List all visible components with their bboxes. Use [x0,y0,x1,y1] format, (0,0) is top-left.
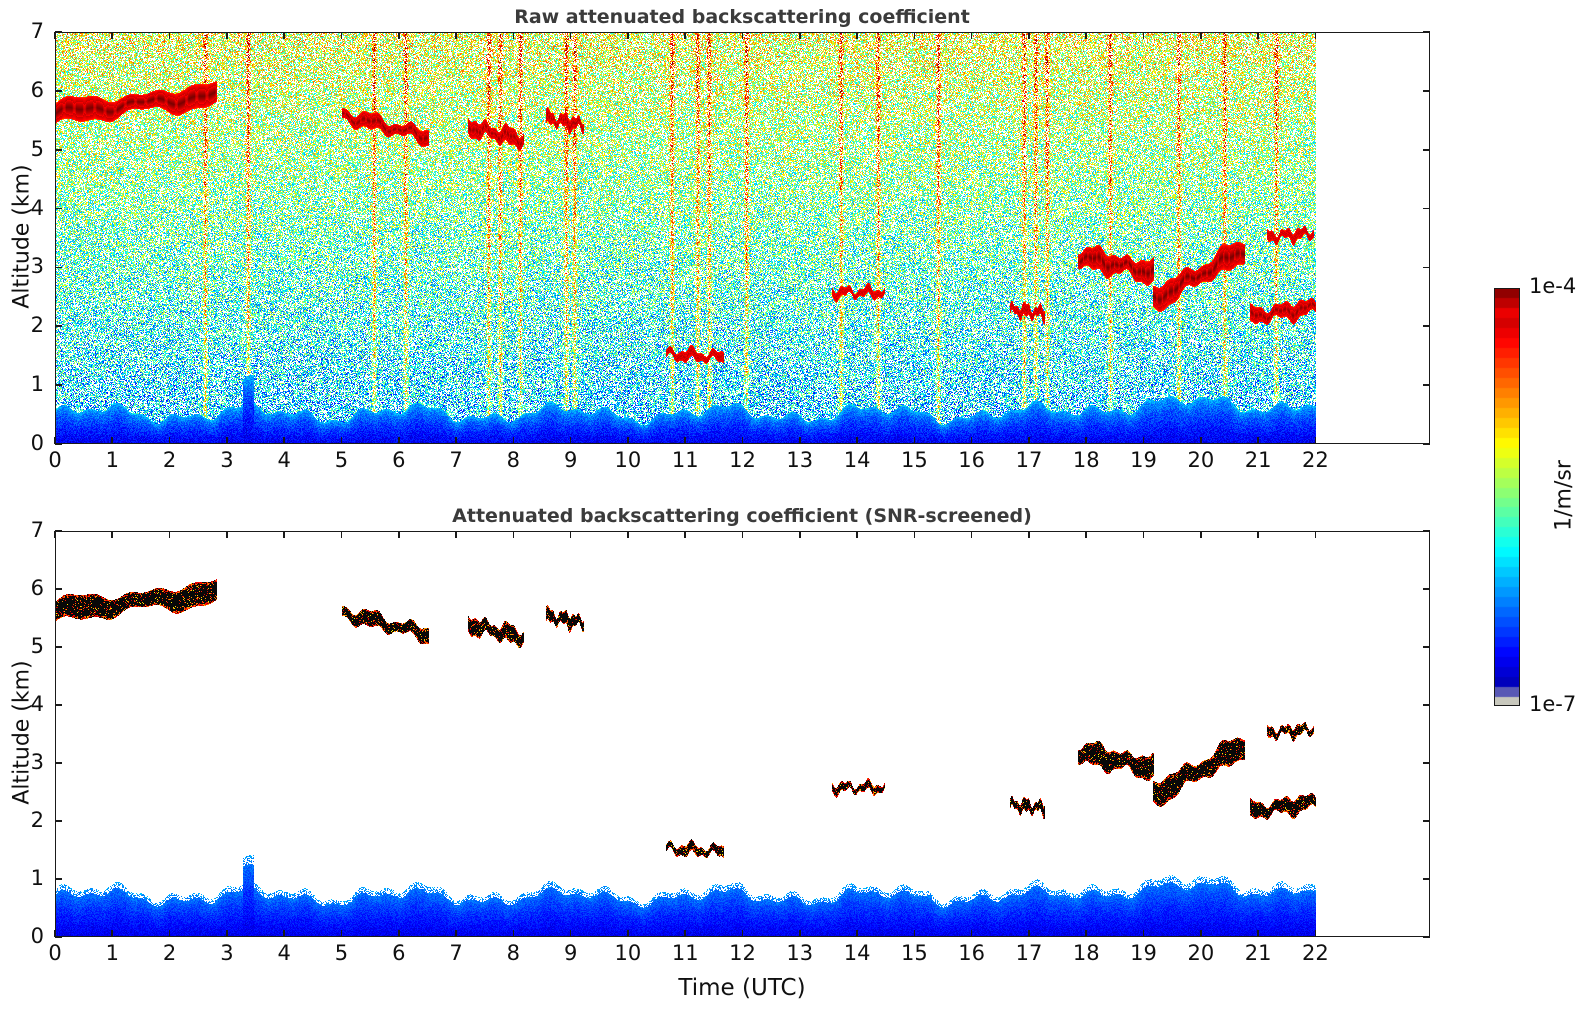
x-tick-label: 6 [373,450,425,471]
y-tick-mark [55,31,62,33]
x-tick-mark [799,437,801,444]
x-tick-mark [684,531,686,538]
x-tick-mark [570,32,572,39]
x-tick-label: 0 [29,450,81,471]
colorbar-gradient [1495,289,1520,706]
x-tick-label: 6 [373,943,425,964]
x-tick-mark [169,32,171,39]
y-tick-mark [55,588,62,590]
x-tick-mark [111,930,113,937]
x-tick-mark [111,437,113,444]
y-axis-label-screened: Altitude (km) [10,530,35,936]
x-tick-mark [627,32,629,39]
x-tick-label: 16 [946,943,998,964]
y-tick-mark [55,878,62,880]
x-tick-mark [513,32,515,39]
x-tick-mark [226,930,228,937]
x-tick-mark [1257,930,1259,937]
x-tick-label: 15 [888,943,940,964]
x-tick-label: 7 [430,943,482,964]
x-tick-mark [283,437,285,444]
y-tick-mark [1423,384,1430,386]
y-tick-mark [55,762,62,764]
y-tick-mark [55,530,62,532]
colorbar[interactable] [1494,288,1520,706]
x-tick-mark [971,531,973,538]
x-tick-label: 1 [86,450,138,471]
x-tick-label: 8 [487,450,539,471]
x-tick-label: 19 [1118,450,1170,471]
x-tick-label: 3 [201,450,253,471]
x-tick-mark [1315,32,1317,39]
x-tick-label: 11 [659,450,711,471]
x-tick-mark [856,437,858,444]
x-tick-mark [627,531,629,538]
x-tick-label: 4 [258,943,310,964]
y-axis-label-raw: Altitude (km) [10,31,35,443]
x-tick-mark [799,930,801,937]
x-tick-mark [570,437,572,444]
x-tick-mark [54,531,56,538]
y-tick-mark [1423,267,1430,269]
x-tick-mark [54,32,56,39]
x-tick-mark [1085,32,1087,39]
x-tick-mark [169,437,171,444]
y-tick-mark [55,149,62,151]
y-tick-mark [55,208,62,210]
x-tick-label: 21 [1232,943,1284,964]
x-tick-label: 17 [1003,450,1055,471]
x-tick-mark [1028,437,1030,444]
y-tick-mark [55,820,62,822]
x-tick-mark [455,930,457,937]
x-tick-label: 22 [1289,943,1341,964]
x-tick-mark [856,930,858,937]
y-tick-mark [1423,878,1430,880]
y-tick-mark [55,443,62,445]
x-tick-label: 16 [946,450,998,471]
x-tick-mark [1315,437,1317,444]
x-tick-mark [1143,32,1145,39]
x-tick-mark [627,930,629,937]
x-tick-mark [341,437,343,444]
x-tick-mark [1315,930,1317,937]
x-tick-label: 0 [29,943,81,964]
x-tick-mark [513,531,515,538]
y-tick-mark [1423,443,1430,445]
x-tick-mark [398,930,400,937]
x-tick-mark [341,930,343,937]
y-tick-mark [1423,588,1430,590]
x-tick-mark [111,531,113,538]
x-axis-label: Time (UTC) [0,975,1484,1001]
x-tick-label: 7 [430,450,482,471]
x-tick-mark [1257,531,1259,538]
y-tick-mark [1423,704,1430,706]
x-tick-mark [341,531,343,538]
x-tick-mark [226,437,228,444]
x-tick-label: 22 [1289,450,1341,471]
x-tick-label: 9 [545,943,597,964]
x-tick-mark [169,531,171,538]
heatmap-canvas-raw [56,33,1430,444]
x-tick-mark [914,531,916,538]
x-tick-mark [570,930,572,937]
x-tick-label: 13 [774,450,826,471]
x-tick-mark [1028,930,1030,937]
plot-area-screened[interactable] [55,531,1430,937]
x-tick-mark [54,437,56,444]
x-tick-mark [856,32,858,39]
panel-title-raw: Raw attenuated backscattering coefficien… [0,6,1484,28]
x-tick-mark [1200,437,1202,444]
colorbar-label: 1/m/sr [1552,287,1577,705]
x-tick-label: 9 [545,450,597,471]
x-tick-mark [1200,930,1202,937]
y-tick-mark [1423,530,1430,532]
x-tick-mark [1028,32,1030,39]
y-tick-mark [1423,936,1430,938]
x-tick-mark [742,32,744,39]
x-tick-label: 1 [86,943,138,964]
x-tick-mark [799,32,801,39]
x-tick-mark [971,32,973,39]
x-tick-label: 4 [258,450,310,471]
x-tick-mark [1143,437,1145,444]
plot-area-raw[interactable] [55,32,1430,444]
x-tick-mark [856,531,858,538]
x-tick-label: 11 [659,943,711,964]
x-tick-mark [398,531,400,538]
y-tick-mark [55,646,62,648]
y-tick-mark [1423,762,1430,764]
x-tick-label: 10 [602,450,654,471]
x-tick-label: 18 [1060,943,1112,964]
x-tick-label: 12 [717,450,769,471]
x-tick-label: 2 [144,450,196,471]
x-tick-mark [455,32,457,39]
y-tick-mark [1423,90,1430,92]
y-tick-mark [55,704,62,706]
x-tick-mark [1200,531,1202,538]
x-tick-mark [1315,531,1317,538]
x-tick-mark [570,531,572,538]
x-tick-mark [455,531,457,538]
x-tick-mark [1085,531,1087,538]
y-tick-mark [55,325,62,327]
x-tick-mark [1028,531,1030,538]
panel-title-screened: Attenuated backscattering coefficient (S… [0,505,1484,527]
x-tick-mark [684,32,686,39]
y-tick-mark [55,90,62,92]
x-tick-mark [398,437,400,444]
y-tick-mark [1423,646,1430,648]
x-tick-label: 15 [888,450,940,471]
x-tick-mark [971,930,973,937]
x-tick-mark [742,531,744,538]
heatmap-canvas-screened [56,532,1430,937]
x-tick-mark [684,930,686,937]
x-tick-mark [226,531,228,538]
x-tick-label: 13 [774,943,826,964]
x-tick-mark [1143,930,1145,937]
x-tick-label: 5 [315,943,367,964]
y-tick-mark [55,936,62,938]
x-tick-mark [1143,531,1145,538]
x-tick-mark [684,437,686,444]
x-tick-mark [513,930,515,937]
x-tick-mark [914,930,916,937]
x-tick-label: 2 [144,943,196,964]
x-tick-label: 10 [602,943,654,964]
x-tick-mark [1257,437,1259,444]
x-tick-label: 19 [1118,943,1170,964]
x-tick-mark [54,930,56,937]
x-tick-label: 5 [315,450,367,471]
x-tick-mark [513,437,515,444]
x-tick-label: 3 [201,943,253,964]
x-tick-mark [341,32,343,39]
y-tick-mark [1423,820,1430,822]
x-tick-mark [914,32,916,39]
lidar-figure: Raw attenuated backscattering coefficien… [0,0,1595,1020]
x-tick-mark [1085,930,1087,937]
x-tick-mark [111,32,113,39]
x-tick-mark [914,437,916,444]
y-tick-mark [55,384,62,386]
x-tick-mark [627,437,629,444]
y-tick-mark [1423,149,1430,151]
x-tick-label: 20 [1175,450,1227,471]
x-tick-mark [283,930,285,937]
x-tick-mark [226,32,228,39]
x-tick-mark [1200,32,1202,39]
x-tick-label: 14 [831,450,883,471]
x-tick-mark [742,930,744,937]
x-tick-mark [283,531,285,538]
x-tick-label: 18 [1060,450,1112,471]
x-tick-mark [398,32,400,39]
x-tick-label: 20 [1175,943,1227,964]
x-tick-label: 21 [1232,450,1284,471]
x-tick-mark [1085,437,1087,444]
x-tick-mark [1257,32,1259,39]
x-tick-mark [283,32,285,39]
x-tick-label: 14 [831,943,883,964]
y-tick-mark [55,267,62,269]
x-tick-label: 12 [717,943,769,964]
x-tick-mark [971,437,973,444]
y-tick-mark [1423,208,1430,210]
x-tick-label: 8 [487,943,539,964]
x-tick-label: 17 [1003,943,1055,964]
y-tick-mark [1423,325,1430,327]
x-tick-mark [169,930,171,937]
y-tick-mark [1423,31,1430,33]
x-tick-mark [455,437,457,444]
x-tick-mark [799,531,801,538]
x-tick-mark [742,437,744,444]
